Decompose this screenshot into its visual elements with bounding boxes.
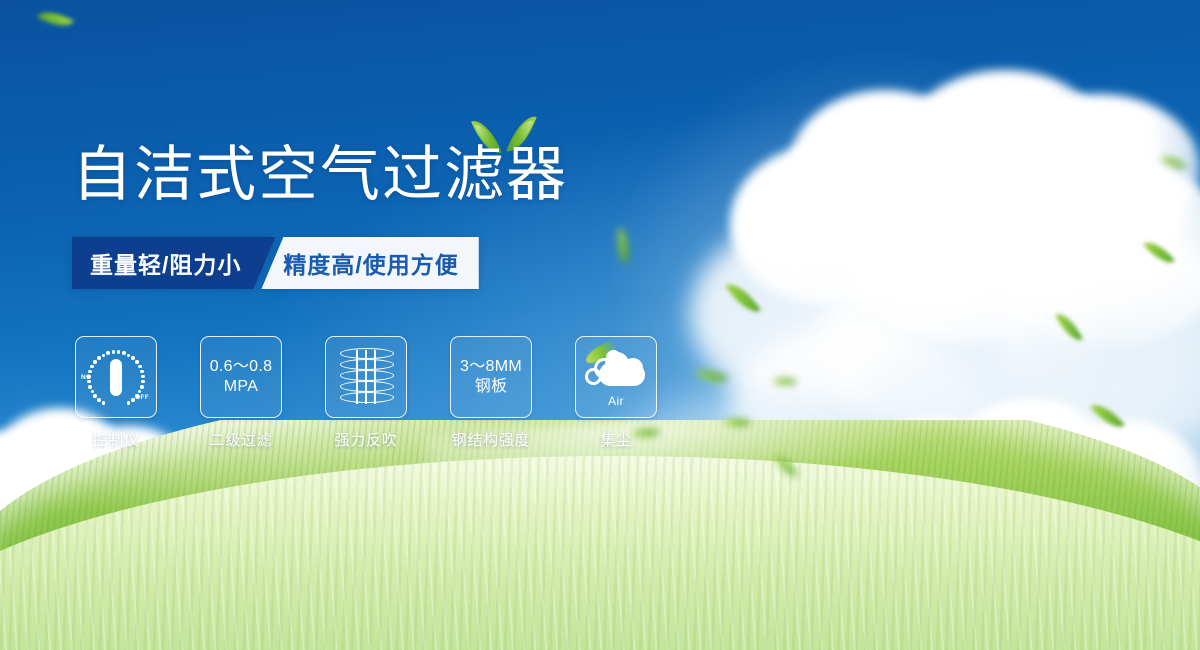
feature-list: NO OFF 控制仪 0.6～0.8 MPA 二级过滤 <box>76 336 656 450</box>
product-hero-banner: 自洁式空气过滤器 重量轻/阻力小 精度高/使用方便 NO OFF 控制仪 0.6… <box>0 0 1200 650</box>
gauge-tick-dot <box>91 390 94 393</box>
gauge-tick-dot <box>138 365 141 368</box>
steel-line-1: 3～8MM <box>460 358 522 375</box>
gauge-tick-dot <box>131 356 134 359</box>
feature-item-controller[interactable]: NO OFF 控制仪 <box>76 336 156 450</box>
gauge-tick-dot <box>138 390 141 393</box>
gauge-tick-dot <box>97 356 100 359</box>
air-bubble-icon <box>585 368 602 385</box>
feature-item-two-stage-filter[interactable]: 0.6～0.8 MPA 二级过滤 <box>201 336 281 450</box>
gauge-tick-dot <box>135 394 138 397</box>
feature-icon-box: 3～8MM 钢板 <box>450 336 532 418</box>
gauge-tick-dot <box>112 350 115 353</box>
air-cloud-icon: Air <box>585 348 647 406</box>
gauge-tick-dot <box>88 370 91 373</box>
gauge-tick-dot <box>135 360 138 363</box>
feature-label: 钢结构强度 <box>451 429 530 450</box>
coil-icon <box>340 348 392 406</box>
gauge-tick-dot <box>90 365 93 368</box>
gauge-tick-dot <box>93 394 96 397</box>
steel-plate-text-icon: 3～8MM 钢板 <box>460 357 522 397</box>
feature-icon-box: 0.6～0.8 MPA <box>200 336 282 418</box>
gauge-tick-dot <box>140 370 143 373</box>
feature-item-steel-strength[interactable]: 3～8MM 钢板 钢结构强度 <box>451 336 531 450</box>
feature-label: 集尘 <box>600 429 632 450</box>
feature-icon-box <box>325 336 407 418</box>
pressure-line-2: MPA <box>210 377 273 397</box>
gauge-tick-dot <box>87 380 90 383</box>
air-caption: Air <box>585 394 647 408</box>
subtitle-bar: 重量轻/阻力小 精度高/使用方便 <box>72 237 479 289</box>
gauge-tick-dot <box>140 385 143 388</box>
subtitle-primary: 重量轻/阻力小 <box>72 237 275 289</box>
page-title: 自洁式空气过滤器 <box>72 140 568 210</box>
feature-item-back-blow[interactable]: 强力反吹 <box>326 336 406 450</box>
gauge-tick-dot <box>141 375 144 378</box>
feature-label: 强力反吹 <box>334 429 397 450</box>
feature-item-dust-collection[interactable]: Air 集尘 <box>576 336 656 450</box>
gauge-tick-dot <box>93 360 96 363</box>
steel-line-2: 钢板 <box>460 377 522 397</box>
gauge-tick-dot <box>131 398 134 401</box>
feature-label: 二级过滤 <box>209 429 272 450</box>
gauge-tick-dot <box>122 351 125 354</box>
feature-label: 控制仪 <box>92 429 139 450</box>
feature-icon-box: NO OFF <box>75 336 157 418</box>
feature-icon-box: Air <box>575 336 657 418</box>
gauge-tick-dot <box>127 401 130 404</box>
gauge-tick-dot <box>127 354 130 357</box>
gauge-tick-dot <box>102 401 105 404</box>
subtitle-secondary: 精度高/使用方便 <box>261 237 478 289</box>
gauge-tick-dot <box>88 385 91 388</box>
pressure-text-icon: 0.6～0.8 MPA <box>210 357 273 397</box>
gauge-tick-dot <box>97 398 100 401</box>
gauge-tick-dot <box>106 351 109 354</box>
gauge-tick-dot <box>87 375 90 378</box>
pressure-line-1: 0.6～0.8 <box>210 358 273 375</box>
gauge-icon: NO OFF <box>83 346 149 408</box>
gauge-needle <box>110 359 122 396</box>
air-bubble-icon <box>606 350 621 365</box>
gauge-tick-dot <box>141 380 144 383</box>
grass-field <box>0 420 1200 650</box>
gauge-tick-dot <box>102 354 105 357</box>
gauge-tick-dot <box>117 350 120 353</box>
